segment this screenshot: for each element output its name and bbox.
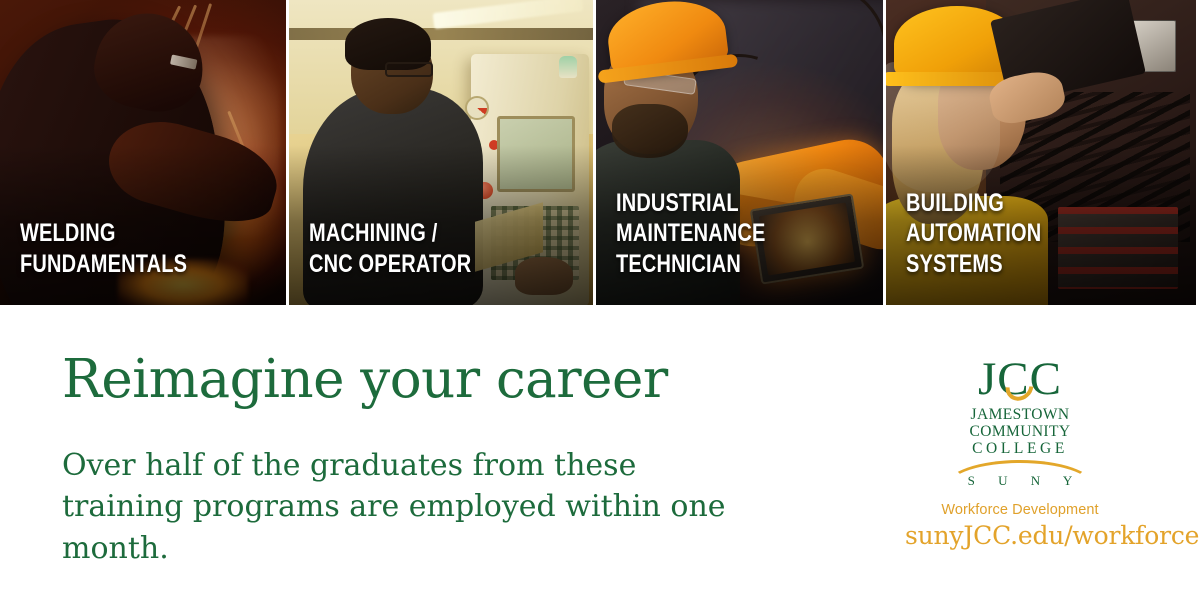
signal-lamp [559, 56, 577, 78]
content-area: Reimagine your career Over half of the g… [0, 305, 1200, 600]
cnc-screen [497, 116, 575, 192]
supporting-copy: Over half of the graduates from these tr… [62, 445, 762, 569]
logo-line-college: COLLEGE [905, 441, 1135, 458]
website-url[interactable]: sunyJCC.edu/workforce [905, 521, 1145, 550]
orange-hard-hat [604, 0, 730, 79]
hero-panel-industrial-maintenance[interactable]: INDUSTRIAL MAINTENANCE TECHNICIAN [596, 0, 883, 305]
hero-panel-building-automation[interactable]: BUILDING AUTOMATION SYSTEMS [886, 0, 1196, 305]
hero-panel-label-welding: WELDING FUNDAMENTALS [20, 218, 225, 279]
hero-panel-label-machining: MACHINING / CNC OPERATOR [309, 218, 528, 279]
hero-panel-label-building-automation: BUILDING AUTOMATION SYSTEMS [906, 188, 1130, 280]
jcc-logo[interactable]: JCC JAMESTOWN COMMUNITY COLLEGE S U N Y … [905, 357, 1135, 518]
logo-tagline: Workforce Development [905, 502, 1135, 518]
technician-beard [612, 104, 688, 158]
eyeglasses [385, 62, 433, 77]
hero-panel-welding[interactable]: WELDING FUNDAMENTALS [0, 0, 286, 305]
hero-panel-label-industrial-maintenance: INDUSTRIAL MAINTENANCE TECHNICIAN [616, 188, 822, 280]
jcc-monogram: JCC [978, 357, 1062, 402]
logo-line-jamestown: JAMESTOWN [905, 407, 1135, 424]
ceiling-beam [289, 28, 593, 40]
logo-line-community: COMMUNITY [905, 424, 1135, 441]
gold-arc-icon [946, 460, 1094, 486]
promotional-banner: WELDING FUNDAMENTALS [0, 0, 1200, 600]
suny-arc-wrapper [905, 460, 1135, 476]
hero-image-strip: WELDING FUNDAMENTALS [0, 0, 1200, 305]
hero-panel-machining[interactable]: MACHINING / CNC OPERATOR [289, 0, 593, 305]
page-title: Reimagine your career [62, 353, 668, 406]
